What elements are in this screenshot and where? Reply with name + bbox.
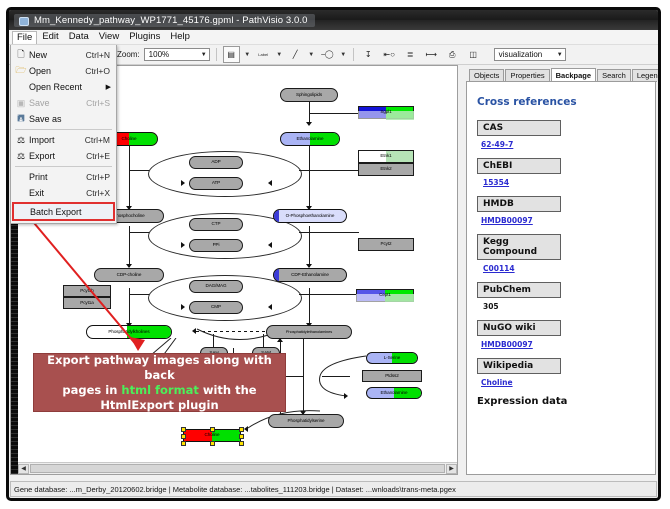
xref-header-cas: CAS [477, 120, 561, 136]
xref-value-wikipedia[interactable]: Choline [481, 378, 645, 387]
status-text: Gene database: ...m_Derby_20120602.bridg… [14, 485, 456, 494]
menu-item-label: Import [29, 135, 85, 145]
annotation-callout: Export pathway images along with back pa… [33, 353, 286, 412]
xref-value-cas[interactable]: 62-49-7 [481, 140, 645, 149]
window-title: Mm_Kennedy_pathway_WP1771_45176.gpml - P… [34, 15, 308, 26]
tab-objects[interactable]: Objects [469, 69, 504, 81]
tab-legend[interactable]: Legend [632, 69, 661, 81]
same-height-icon[interactable]: ◫ [465, 46, 482, 63]
arrowhead [181, 242, 185, 248]
edge [309, 226, 310, 267]
arrowhead [244, 426, 248, 432]
resize-handle[interactable] [239, 434, 244, 439]
submenu-arrow-icon: ▶ [106, 83, 116, 91]
resize-handle[interactable] [239, 427, 244, 432]
node-label: Phosphatidylethanolamines [286, 330, 332, 334]
menu-item-shortcut: Ctrl+N [86, 50, 116, 60]
resize-handle[interactable] [181, 441, 186, 446]
node-label: ADP [211, 160, 220, 165]
node-ctp[interactable]: CTP [189, 218, 243, 231]
datanode-dropdown-icon[interactable]: ▼ [244, 52, 251, 58]
menu-item-shortcut: Ctrl+X [86, 188, 116, 198]
callout-line2-b: with the [199, 383, 257, 397]
node-label: Choline [122, 137, 137, 142]
node-label: Phosphocholine [113, 214, 144, 219]
node-phosphatidylethanolamines[interactable]: Phosphatidylethanolamines [266, 325, 352, 339]
arrowhead [344, 393, 348, 399]
interaction-dropdown-icon[interactable]: ▼ [340, 52, 347, 58]
arrowhead [268, 180, 272, 186]
node-label: DAG/MAG [206, 284, 227, 289]
xref-header-nugo: NuGO wiki [477, 320, 561, 336]
gene-pcyt1b[interactable]: Pcyt1b [63, 285, 111, 297]
menu-item-shortcut: Ctrl+E [86, 151, 116, 161]
arrowhead [181, 304, 185, 310]
edge [309, 113, 358, 114]
chevron-down-icon-2: ▼ [557, 52, 563, 58]
menu-item-label: Batch Export [16, 207, 113, 217]
node-label: Ethanolamine [381, 391, 408, 396]
toolbar-separator-2 [353, 48, 354, 61]
menu-separator-2 [15, 166, 112, 167]
edge [129, 232, 149, 233]
node-o-phosphoethanolamine[interactable]: O-Phosphoethanolamine [273, 209, 347, 223]
node-label: CMP [211, 305, 221, 310]
distribute-horizontal-icon[interactable]: ⟼ [423, 46, 440, 63]
gene-label: Ptdss2 [385, 374, 398, 379]
gene-label: Etnk1 [380, 154, 391, 159]
gene-label: Sgpl1 [380, 110, 391, 115]
title-bar: Mm_Kennedy_pathway_WP1771_45176.gpml - P… [9, 10, 658, 30]
resize-handle[interactable] [181, 427, 186, 432]
menu-item-batch-export[interactable]: Batch Export [12, 202, 115, 221]
xref-link-hmdb[interactable]: HMDB00097 [481, 216, 533, 225]
canvas-horizontal-scrollbar[interactable]: ◀ ▶ [18, 462, 457, 474]
label-tool-button[interactable]: Label [255, 46, 272, 63]
xref-link-nugo[interactable]: HMDB00097 [481, 340, 533, 349]
menu-view[interactable]: View [94, 30, 124, 44]
title-chip: Mm_Kennedy_pathway_WP1771_45176.gpml - P… [14, 14, 315, 27]
backpage-content: Cross references CAS 62-49-7 ChEBI 15354… [466, 81, 656, 475]
xref-link-wikipedia[interactable]: Choline [481, 378, 513, 387]
menu-item-open-recent[interactable]: Open Recent ▶ [11, 79, 116, 95]
edge [129, 170, 149, 171]
label-tool-label: Label [258, 52, 268, 57]
align-left-icon[interactable]: ⇤○ [381, 46, 398, 63]
menu-item-export[interactable]: ⚖ Export Ctrl+E [11, 148, 116, 164]
callout-line3: HtmlExport plugin [100, 398, 218, 412]
node-label: CDP-Ethanolamine [291, 273, 329, 278]
node-label: Phosphatidylserine [287, 419, 324, 424]
menu-item-new[interactable]: 🗋 New Ctrl+N [11, 47, 116, 63]
scroll-left-arrow-icon[interactable]: ◀ [18, 464, 29, 474]
edge [129, 294, 149, 295]
xref-link-chebi[interactable]: 15354 [483, 178, 509, 187]
xref-value-kegg[interactable]: C00114 [483, 264, 645, 273]
callout-line2-a: pages in [62, 383, 121, 397]
status-bar: Gene database: ...m_Derby_20120602.bridg… [10, 481, 657, 497]
tab-properties[interactable]: Properties [505, 69, 549, 81]
xref-value-pubchem: 305 [483, 302, 645, 311]
menu-file[interactable]: File [12, 31, 37, 44]
visualization-combo[interactable]: visualization ▼ [494, 48, 566, 61]
menu-item-label: New [29, 50, 86, 60]
node-label: O-Phosphoethanolamine [286, 214, 335, 219]
menu-item-label: Print [29, 172, 86, 182]
line-dropdown-icon[interactable]: ▼ [308, 52, 315, 58]
pathvisio-icon [18, 15, 29, 26]
chevron-down-icon: ▼ [201, 52, 207, 58]
distribute-vertical-icon[interactable]: ≣ [402, 46, 419, 63]
node-cdp-ethanolamine[interactable]: CDP-Ethanolamine [273, 268, 347, 282]
node-cdp-choline[interactable]: CDP-choline [94, 268, 164, 282]
tab-backpage[interactable]: Backpage [551, 68, 596, 82]
resize-handle[interactable] [239, 441, 244, 446]
save-as-icon: 🖪 [13, 113, 29, 126]
edge [129, 226, 130, 267]
menu-item-label: Open Recent [29, 82, 106, 92]
resize-handle[interactable] [181, 434, 186, 439]
menu-item-shortcut: Ctrl+O [85, 66, 116, 76]
arrowhead [306, 122, 312, 126]
gene-label: Pcyt2 [381, 242, 392, 247]
node-label: L-Serine [384, 356, 401, 361]
node-ethanolamine-2[interactable]: Ethanolamine [366, 387, 422, 399]
gene-label: Pcyt1a [80, 301, 93, 306]
node-ethanolamine[interactable]: Ethanolamine [280, 132, 340, 146]
node-phosphatidylcholines[interactable]: Phosphatidylkholines [86, 325, 172, 339]
menu-item-print[interactable]: Print Ctrl+P [11, 169, 116, 185]
edge [299, 294, 356, 295]
folder-open-icon: 🗁 [13, 65, 29, 78]
menu-item-label: Export [29, 151, 86, 161]
node-cmp[interactable]: CMP [189, 301, 243, 314]
node-label: Phosphatidylkholines [108, 330, 149, 335]
zoom-combo[interactable]: 100% ▼ [144, 48, 210, 61]
zoom-label: Zoom: [117, 50, 140, 59]
menu-item-shortcut: Ctrl+S [86, 98, 116, 108]
gene-label: Cept1 [379, 293, 391, 298]
node-label: Ethanolamine [297, 137, 324, 142]
menu-edit[interactable]: Edit [37, 30, 63, 44]
expression-half [274, 210, 279, 222]
xref-header-wikipedia: Wikipedia [477, 358, 561, 374]
menu-plugins[interactable]: Plugins [124, 30, 165, 44]
menu-item-exit[interactable]: Exit Ctrl+X [11, 185, 116, 201]
zoom-value: 100% [149, 50, 169, 59]
blank-icon-3 [13, 187, 29, 200]
blank-icon-2 [13, 171, 29, 184]
expression-half [274, 269, 279, 281]
scrollbar-thumb[interactable] [30, 464, 445, 473]
menu-item-label: Exit [29, 188, 86, 198]
node-label: ATP [212, 181, 220, 186]
node-label: Choline [205, 433, 220, 438]
node-atp[interactable]: ATP [189, 177, 243, 190]
new-document-icon: 🗋 [13, 49, 29, 62]
menu-help[interactable]: Help [165, 30, 195, 44]
gene-ptdss2[interactable]: Ptdss2 [362, 370, 422, 382]
reaction-curve [298, 348, 368, 406]
edge [322, 376, 350, 377]
arrowhead [268, 242, 272, 248]
file-menu-dropdown[interactable]: 🗋 New Ctrl+N 🗁 Open Ctrl+O Open Recent ▶… [10, 45, 117, 224]
gene-pcyt2[interactable]: Pcyt2 [358, 238, 414, 251]
align-top-icon[interactable]: ↧ [360, 46, 377, 63]
export-icon: ⚖ [13, 150, 29, 163]
gene-label: Etnk2 [380, 167, 391, 172]
gene-etnk1[interactable]: Etnk1 [358, 150, 414, 163]
line-tool-button[interactable]: ╱ [287, 46, 304, 63]
menu-bar[interactable]: File Edit Data View Plugins Help [9, 30, 658, 45]
node-label: CTP [212, 222, 221, 227]
same-width-icon[interactable]: ⎙ [444, 46, 461, 63]
menu-item-shortcut: Ctrl+M [85, 135, 116, 145]
xref-value-nugo[interactable]: HMDB00097 [481, 340, 645, 349]
xref-header-pubchem: PubChem [477, 282, 561, 298]
xref-header-chebi: ChEBI [477, 158, 561, 174]
xref-value-hmdb[interactable]: HMDB00097 [481, 216, 645, 225]
interaction-tool-button[interactable]: ⎯◯ [319, 46, 336, 63]
menu-item-import[interactable]: ⚖ Import Ctrl+M [11, 132, 116, 148]
gene-label: Pcyt1b [80, 289, 93, 294]
xref-header-hmdb: HMDB [477, 196, 561, 212]
xref-link-kegg[interactable]: C00114 [483, 264, 515, 273]
label-dropdown-icon[interactable]: ▼ [276, 52, 283, 58]
tab-search[interactable]: Search [597, 69, 631, 81]
edge [299, 232, 359, 233]
panel-tabstrip[interactable]: Objects Properties Backpage Search Legen… [459, 67, 657, 82]
node-sphingolipids[interactable]: Sphingolipids [280, 88, 338, 102]
callout-line1: Export pathway images along with back [47, 353, 272, 382]
edge [299, 170, 359, 171]
expression-data-heading: Expression data [477, 396, 645, 407]
edge [129, 288, 130, 326]
node-label: CDP-choline [117, 273, 142, 278]
arrowhead [268, 304, 272, 310]
scroll-right-arrow-icon[interactable]: ▶ [446, 464, 457, 474]
arrowhead [181, 180, 185, 186]
gene-etnk2[interactable]: Etnk2 [358, 163, 414, 176]
node-adp[interactable]: ADP [189, 156, 243, 169]
menu-item-shortcut: Ctrl+P [86, 172, 116, 182]
import-icon: ⚖ [13, 134, 29, 147]
gene-pcyt1a[interactable]: Pcyt1a [63, 297, 111, 309]
edge [309, 288, 310, 326]
menu-item-label: Open [29, 66, 85, 76]
toolbar-separator [216, 48, 217, 61]
visualization-value: visualization [499, 50, 543, 59]
cross-references-heading: Cross references [477, 96, 645, 108]
menu-item-save-as[interactable]: 🖪 Save as [11, 111, 116, 127]
xref-value-chebi[interactable]: 15354 [483, 178, 645, 187]
xref-link-cas[interactable]: 62-49-7 [481, 140, 513, 149]
resize-handle[interactable] [210, 441, 215, 446]
application-window: Mm_Kennedy_pathway_WP1771_45176.gpml - P… [6, 7, 661, 501]
node-dag-mag[interactable]: DAG/MAG [189, 280, 243, 293]
side-panel: Objects Properties Backpage Search Legen… [459, 65, 657, 475]
menu-item-save: ▣ Save Ctrl+S [11, 95, 116, 111]
node-label: Sphingolipids [296, 93, 322, 98]
menu-item-label: Save [29, 98, 86, 108]
menu-separator [15, 129, 112, 130]
callout-line2-highlight: html format [121, 383, 198, 397]
edge [309, 146, 310, 209]
menu-item-label: Save as [29, 114, 110, 124]
blank-icon [13, 81, 29, 94]
xref-header-kegg: Kegg Compound [477, 234, 561, 260]
edge [129, 146, 130, 209]
node-label: PPi [213, 243, 220, 248]
node-l-serine[interactable]: L-Serine [366, 352, 418, 364]
save-icon: ▣ [13, 97, 29, 110]
node-ppi[interactable]: PPi [189, 239, 243, 252]
datanode-tool-button[interactable]: ▤ [223, 46, 240, 63]
menu-data[interactable]: Data [64, 30, 94, 44]
menu-item-open[interactable]: 🗁 Open Ctrl+O [11, 63, 116, 79]
node-phosphatidylserine[interactable]: Phosphatidylserine [268, 414, 344, 428]
